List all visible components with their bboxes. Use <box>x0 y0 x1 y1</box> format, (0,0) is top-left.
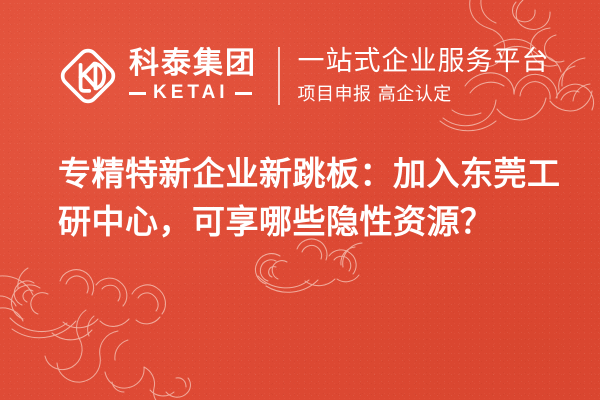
brand-name-cn: 科泰集团 <box>129 48 257 79</box>
promo-banner: 科泰集团 KETAI 一站式企业服务平台 项目申报 高企认定 专精特新企业新跳板… <box>0 0 600 400</box>
banner-header: 科泰集团 KETAI 一站式企业服务平台 项目申报 高企认定 <box>57 38 550 114</box>
logo-dash-right <box>235 92 252 95</box>
tagline-sub: 项目申报 高企认定 <box>298 84 550 106</box>
tagline-block: 一站式企业服务平台 项目申报 高企认定 <box>298 47 550 106</box>
brand-name-en-row: KETAI <box>129 82 257 104</box>
header-divider <box>278 47 280 105</box>
cloud-ribbon-bottom-left <box>0 268 190 400</box>
brand-logo[interactable]: 科泰集团 KETAI <box>57 45 257 107</box>
brand-name-en: KETAI <box>146 82 235 104</box>
ketai-diamond-monogram-icon <box>57 45 119 107</box>
headline: 专精特新企业新跳板：加入东莞工 研中心，可享哪些隐性资源？ <box>58 150 558 246</box>
logo-dash-left <box>129 92 146 95</box>
headline-line-2: 研中心，可享哪些隐性资源？ <box>58 198 558 246</box>
cloud-motif-bottom-left <box>0 270 165 340</box>
cloud-motif-center <box>255 239 362 292</box>
tagline-main: 一站式企业服务平台 <box>298 47 550 77</box>
headline-line-1: 专精特新企业新跳板：加入东莞工 <box>58 150 558 198</box>
